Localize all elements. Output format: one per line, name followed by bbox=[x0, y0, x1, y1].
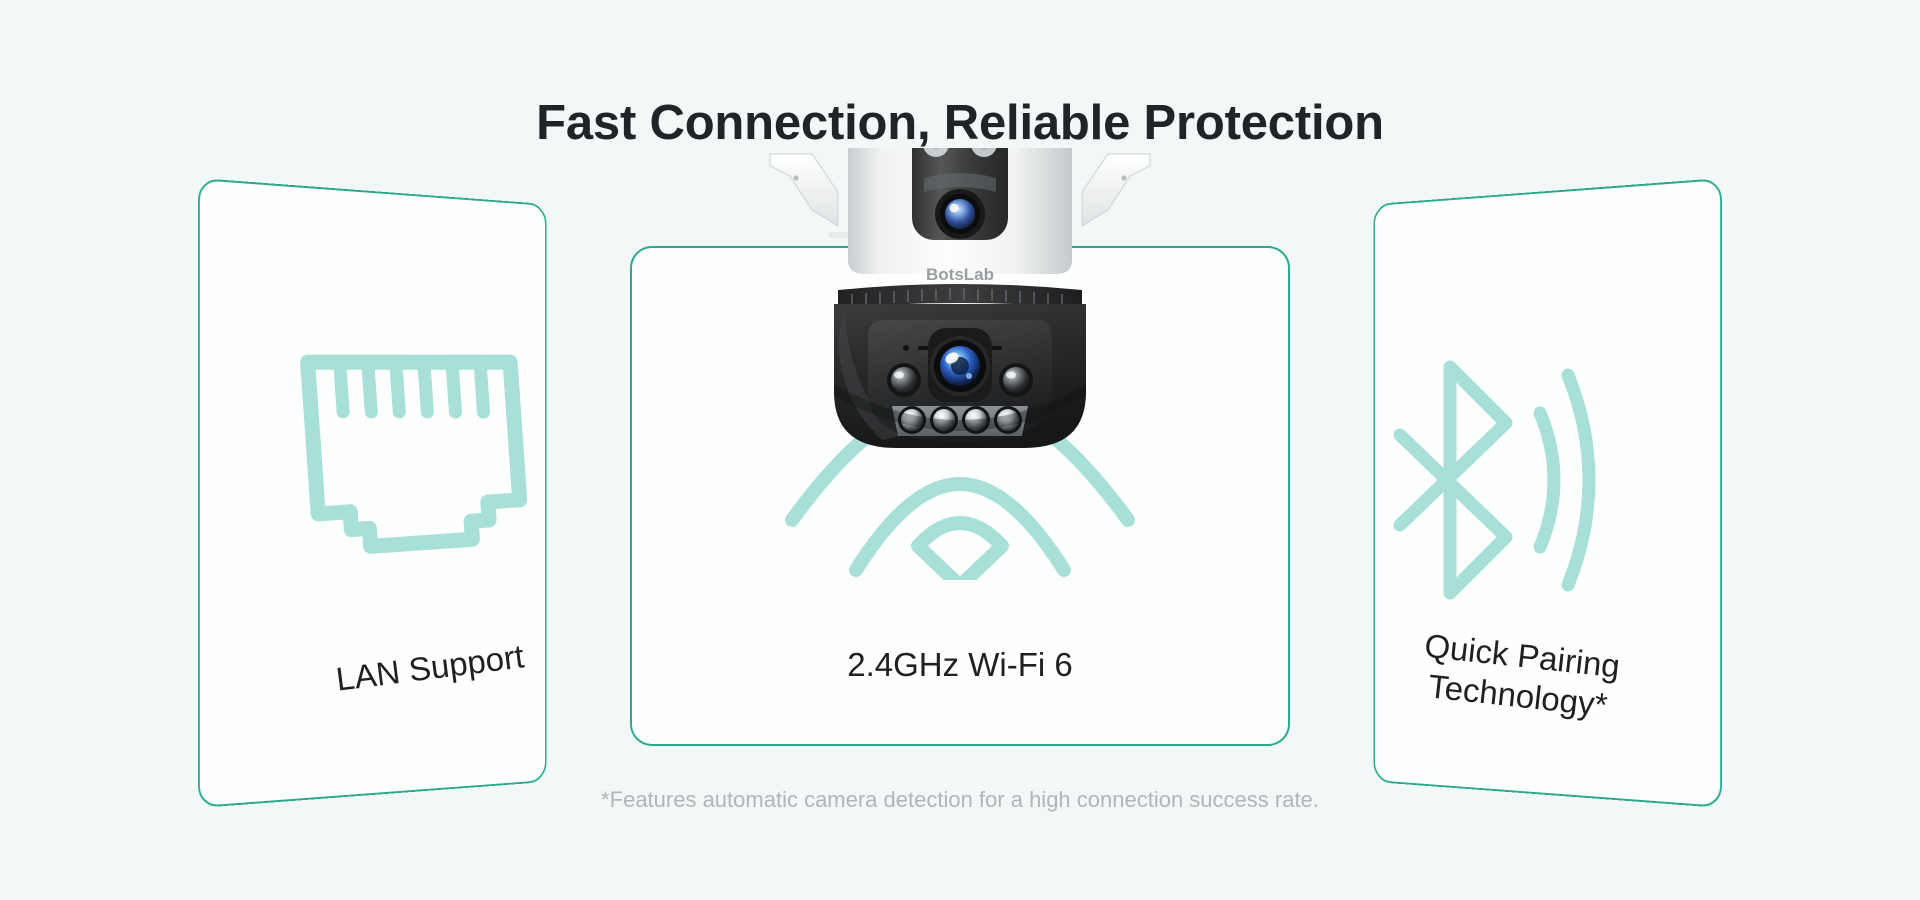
promo-banner: Fast Connection, Reliable Protection bbox=[0, 0, 1920, 900]
footnote-text: *Features automatic camera detection for… bbox=[0, 787, 1920, 813]
camera-lens-main bbox=[928, 328, 992, 402]
brand-logo: BotsLab bbox=[926, 265, 994, 284]
feature-card-lan[interactable] bbox=[198, 178, 547, 808]
product-camera-image: BotsLab bbox=[760, 148, 1160, 568]
camera-lens-upper bbox=[935, 189, 985, 239]
feature-card-wifi-label: 2.4GHz Wi-Fi 6 bbox=[690, 645, 1230, 685]
page-title: Fast Connection, Reliable Protection bbox=[0, 95, 1920, 151]
camera-antenna-left bbox=[770, 154, 852, 238]
camera-antenna-right bbox=[1082, 154, 1150, 226]
